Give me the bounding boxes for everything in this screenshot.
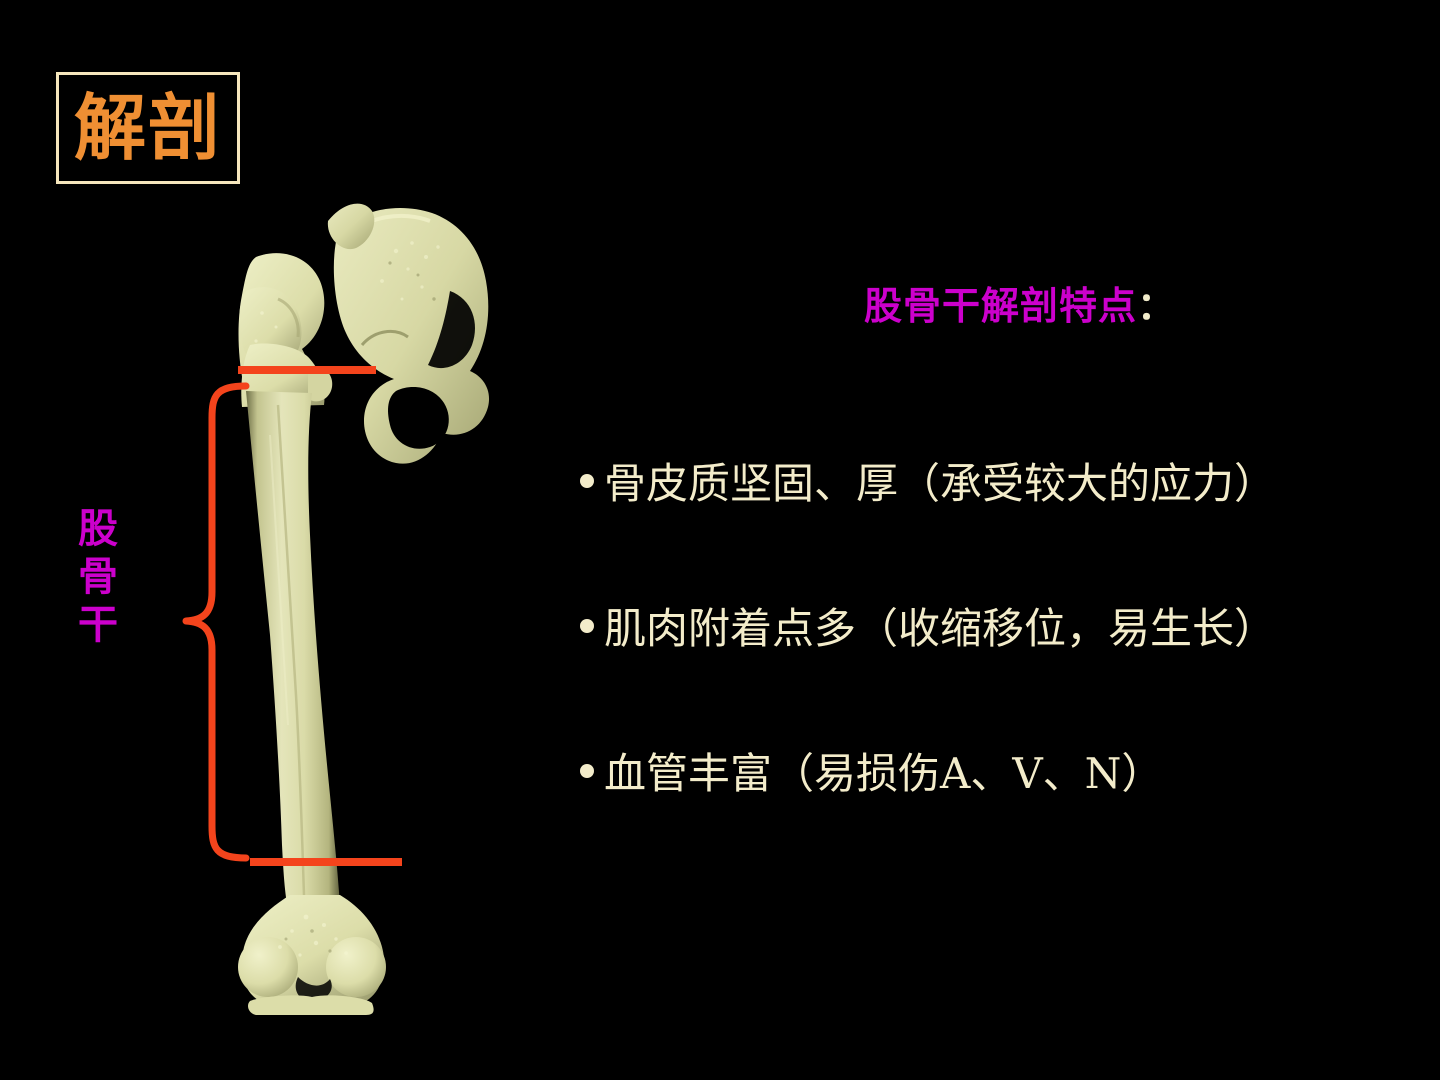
features-heading: 股骨干解剖特点： — [560, 275, 1420, 330]
features-heading-colon: ： — [1137, 283, 1176, 328]
slide-canvas: 解剖 股 骨 干 — [0, 0, 1440, 1080]
list-item: 血管丰富（易损伤A、V、N） — [580, 750, 1163, 798]
list-item-label: 血管丰富（易损伤A、V、N） — [604, 750, 1163, 798]
list-item-label: 肌肉附着点多（收缩移位，易生长） — [604, 605, 1276, 653]
content-column: 股骨干解剖特点： 骨皮质坚固、厚（承受较大的应力） 肌肉附着点多（收缩移位，易生… — [560, 275, 1420, 330]
femoral-shaft-label-char-1: 股 — [70, 505, 126, 553]
bullet-dot-icon — [580, 619, 594, 633]
shaft-extent-markers — [120, 180, 560, 1080]
bullet-dot-icon — [580, 764, 594, 778]
list-item-label: 骨皮质坚固、厚（承受较大的应力） — [604, 460, 1276, 508]
femoral-shaft-label-char-3: 干 — [70, 601, 126, 649]
femoral-shaft-label: 股 骨 干 — [70, 505, 126, 649]
bullet-dot-icon — [580, 474, 594, 488]
page-title: 解剖 — [74, 92, 222, 164]
list-item: 肌肉附着点多（收缩移位，易生长） — [580, 605, 1276, 653]
slide-title-box: 解剖 — [56, 72, 240, 184]
features-heading-text: 股骨干解剖特点 — [864, 283, 1137, 328]
femoral-shaft-brace — [186, 386, 246, 858]
femoral-shaft-label-char-2: 骨 — [70, 553, 126, 601]
list-item: 骨皮质坚固、厚（承受较大的应力） — [580, 460, 1276, 508]
